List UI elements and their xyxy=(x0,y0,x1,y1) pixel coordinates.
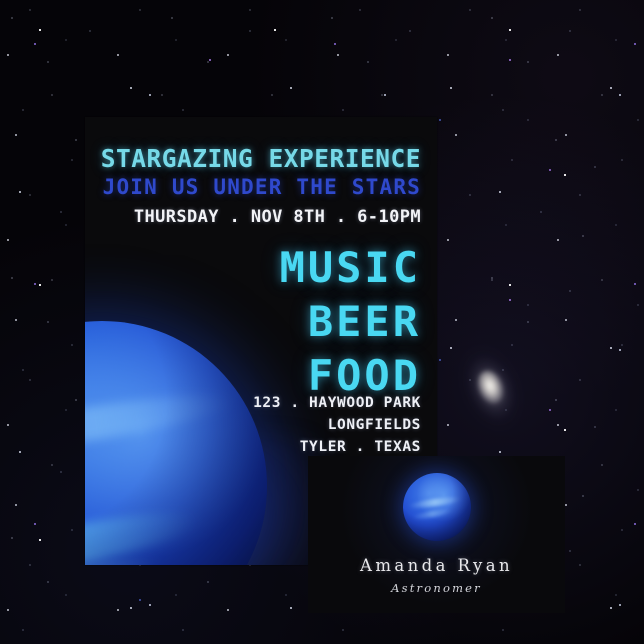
flyer-title-primary: STARGAZING EXPERIENCE xyxy=(101,144,421,173)
neptune-planet-icon xyxy=(403,473,471,541)
flyer-feature-beer: BEER xyxy=(308,297,421,346)
flyer-feature-food: FOOD xyxy=(308,351,421,400)
card-person-name: Amanda Ryan xyxy=(308,556,565,575)
flyer-feature-music: MUSIC xyxy=(280,243,421,292)
flyer-address-line-3: TYLER . TEXAS xyxy=(300,439,421,455)
astronomer-business-card[interactable]: Amanda Ryan Astronomer xyxy=(308,456,565,613)
flyer-address-line-2: LONGFIELDS xyxy=(328,417,421,433)
flyer-date-time: THURSDAY . NOV 8TH . 6-10PM xyxy=(134,207,421,227)
planet-terminator-shadow xyxy=(403,473,471,541)
flyer-title-secondary: JOIN US UNDER THE STARS xyxy=(103,175,421,199)
flyer-address-line-1: 123 . HAYWOOD PARK xyxy=(253,395,421,411)
card-person-role: Astronomer xyxy=(308,581,565,595)
